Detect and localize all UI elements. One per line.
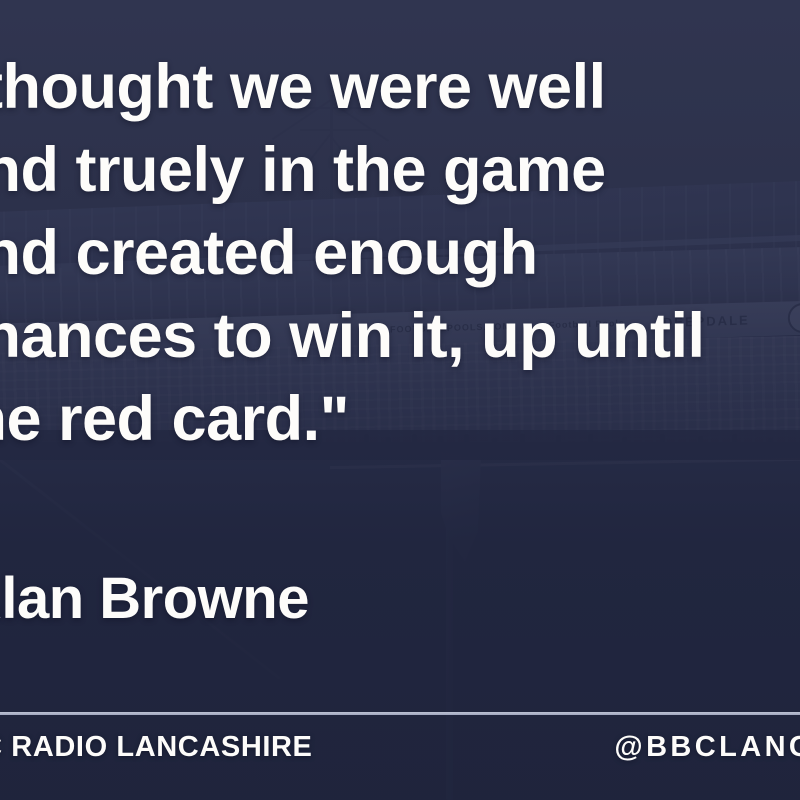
footer-bar: BBC RADIO LANCASHIRE @BBCLANCS bbox=[0, 715, 800, 800]
quote-text: I thought we were well and truely in the… bbox=[0, 46, 800, 461]
content-layer: I thought we were well and truely in the… bbox=[0, 0, 800, 800]
quote-line-1: I thought we were well bbox=[0, 46, 800, 129]
social-handle: @BBCLANCS bbox=[614, 731, 800, 764]
quote-line-2: and truely in the game bbox=[0, 129, 800, 212]
quote-attribution: Alan Browne bbox=[0, 565, 309, 632]
station-name: BBC RADIO LANCASHIRE bbox=[0, 731, 313, 764]
quote-line-5: the red card." bbox=[0, 378, 800, 461]
quote-line-3: and created enough bbox=[0, 212, 800, 295]
quote-line-4: chances to win it, up until bbox=[0, 295, 800, 378]
quote-graphic: FOOTBALLPOOLS.COM Football Pools DEEPDAL… bbox=[0, 0, 800, 800]
